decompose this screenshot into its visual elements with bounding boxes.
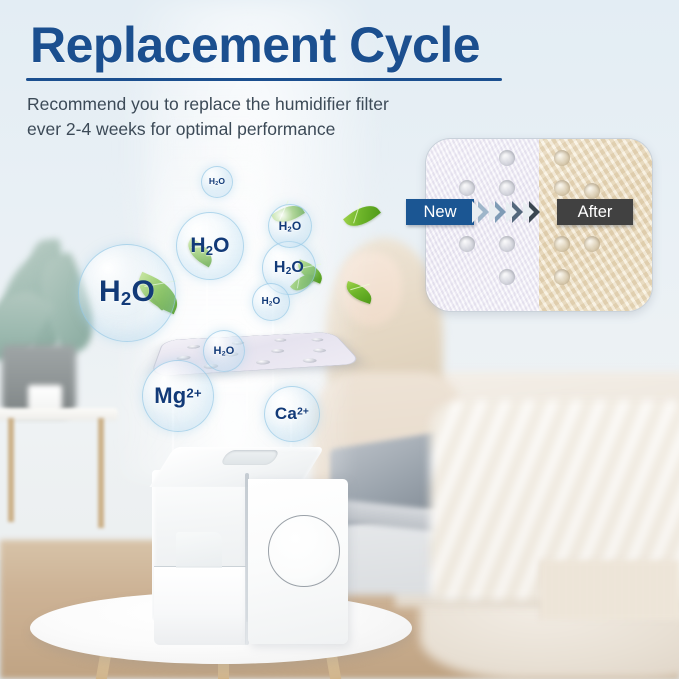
humidifier-dial[interactable]	[268, 515, 340, 587]
bubble-label: H2O	[99, 275, 155, 310]
side-table-leg	[98, 418, 104, 528]
filter-hole	[459, 180, 475, 196]
humidifier-side-panel	[152, 470, 250, 622]
title-underline	[26, 78, 502, 81]
after-badge: After	[557, 199, 633, 225]
bubble-label: H2O	[279, 219, 302, 234]
new-filter-side	[426, 139, 539, 311]
filter-hole	[584, 183, 600, 199]
humidifier-device	[152, 447, 348, 647]
bubble-label: Mg2+	[154, 383, 202, 409]
after-filter-side	[539, 139, 652, 311]
bubble-water: H2O	[201, 166, 233, 198]
filter-hole	[554, 180, 570, 196]
filter-hole	[499, 269, 515, 285]
filter-hole	[499, 236, 515, 252]
infographic-poster: H2OH2OH2OH2OH2OH2OH2OMg2+Ca2+ Replacemen…	[0, 0, 679, 679]
filter-mat-hole	[302, 358, 318, 363]
filter-mat-hole	[270, 349, 284, 354]
humidifier-front-panel	[248, 479, 348, 644]
filter-hole	[459, 236, 475, 252]
filter-hole	[554, 236, 570, 252]
bubble-water: H2O	[78, 244, 176, 342]
transition-arrows	[478, 199, 554, 225]
bubble-calcium-ion: Ca2+	[264, 386, 320, 442]
filter-mat-hole	[310, 338, 324, 342]
filter-comparison-panel	[425, 138, 653, 312]
filter-hole	[499, 180, 515, 196]
bubble-label: Ca2+	[275, 404, 309, 424]
new-badge: New	[406, 199, 474, 225]
filter-mat-hole	[187, 345, 200, 349]
bubble-label: H2O	[261, 296, 280, 307]
page-subtitle: Recommend you to replace the humidifier …	[27, 92, 389, 142]
filter-hole	[554, 150, 570, 166]
blanket-fringe	[540, 560, 679, 620]
bubble-water: H2O	[252, 283, 290, 321]
chevron-notch	[489, 201, 500, 223]
side-table-leg	[8, 418, 14, 522]
bubble-label: H2O	[214, 345, 235, 358]
filter-mat-hole	[274, 338, 287, 342]
bubble-water: H2O	[176, 212, 244, 280]
chevron-notch	[506, 201, 517, 223]
filter-hole	[554, 269, 570, 285]
bubble-water: H2O	[268, 204, 312, 248]
chevron-notch	[472, 201, 483, 223]
filter-hole	[499, 150, 515, 166]
bubble-magnesium-ion: Mg2+	[142, 360, 214, 432]
bubble-label: H2O	[190, 234, 229, 258]
humidifier-water-tank	[154, 566, 246, 645]
filter-hole	[584, 236, 600, 252]
page-title: Replacement Cycle	[30, 16, 480, 74]
bubble-label: H2O	[274, 259, 304, 277]
filter-mat-hole	[255, 360, 270, 365]
humidifier-tank-inner	[176, 532, 222, 568]
bubble-label: H2O	[209, 176, 225, 187]
filter-mat-hole	[312, 348, 327, 353]
chevron-notch	[523, 201, 534, 223]
bubble-water: H2O	[203, 330, 245, 372]
